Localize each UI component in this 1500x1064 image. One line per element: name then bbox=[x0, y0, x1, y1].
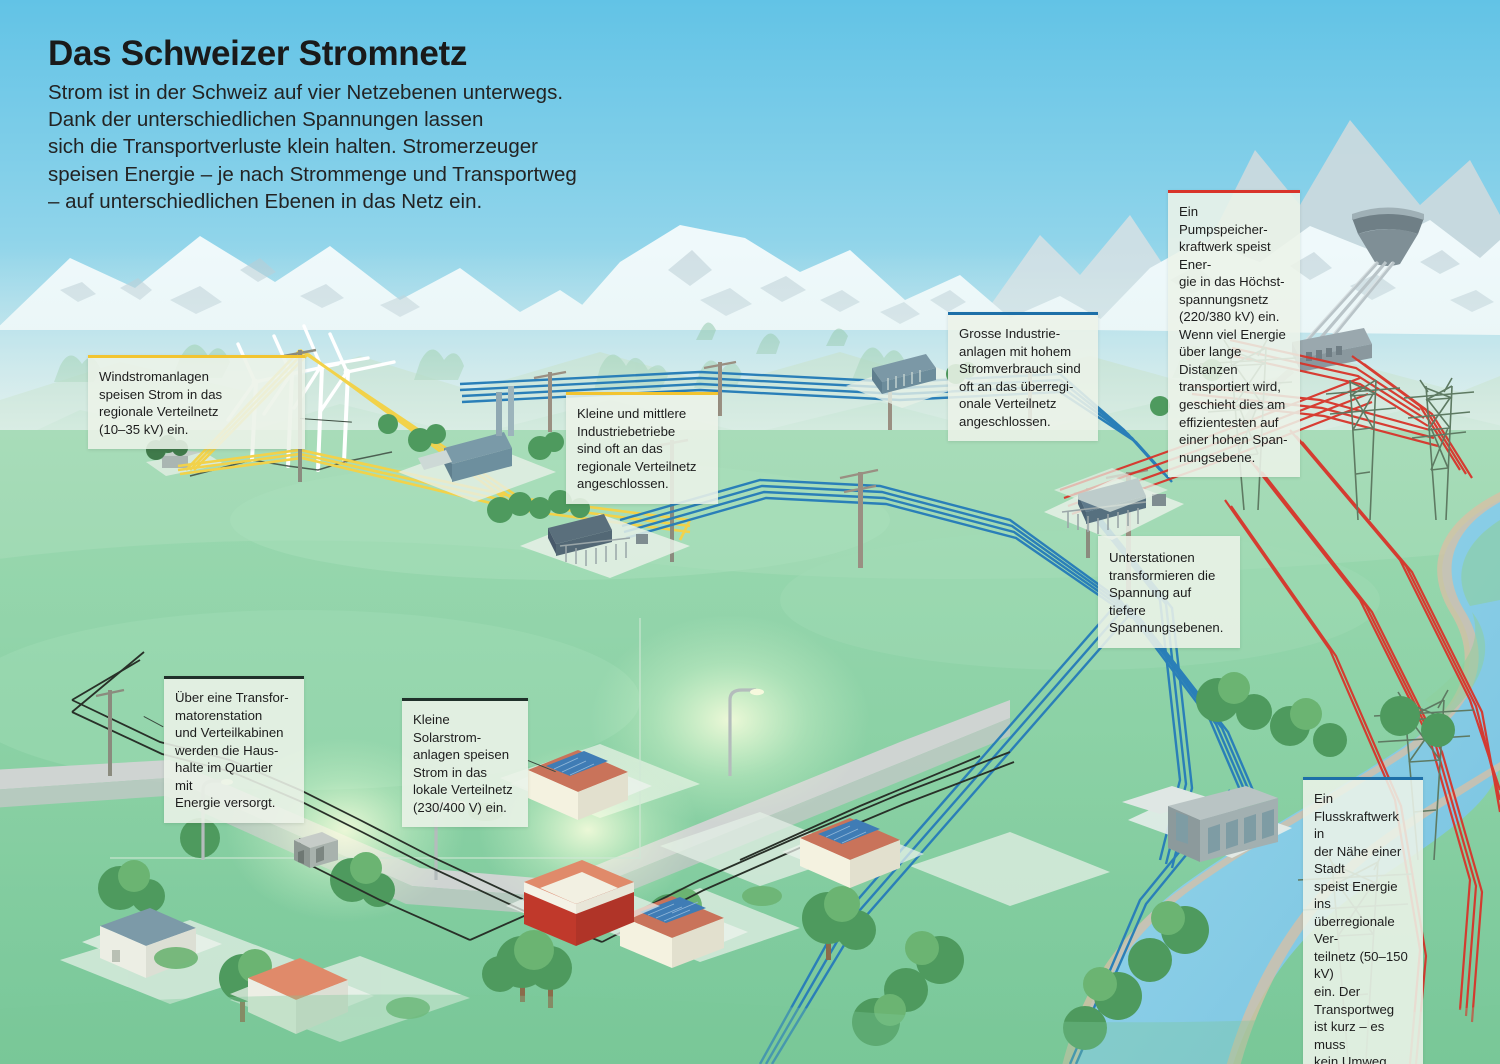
scene-illustration bbox=[0, 0, 1500, 1064]
callout-river-power-plant: Ein Flusskraftwerk in der Nähe einer Sta… bbox=[1303, 777, 1423, 1064]
callout-small-industry: Kleine und mittlere Industriebetriebe si… bbox=[566, 392, 718, 504]
callout-substation: Unterstationen transformieren die Spannu… bbox=[1098, 536, 1240, 648]
infographic-canvas: Das Schweizer Stromnetz Strom ist in der… bbox=[0, 0, 1500, 1064]
callout-wind-power: Windstromanlagen speisen Strom in das re… bbox=[88, 355, 305, 449]
callout-solar-power: Kleine Solarstrom- anlagen speisen Strom… bbox=[402, 698, 528, 827]
callout-transformer-station: Über eine Transfor- matorenstation und V… bbox=[164, 676, 304, 823]
callout-pumped-storage: Ein Pumpspeicher- kraftwerk speist Ener-… bbox=[1168, 190, 1300, 477]
callout-large-industry: Grosse Industrie- anlagen mit hohem Stro… bbox=[948, 312, 1098, 441]
